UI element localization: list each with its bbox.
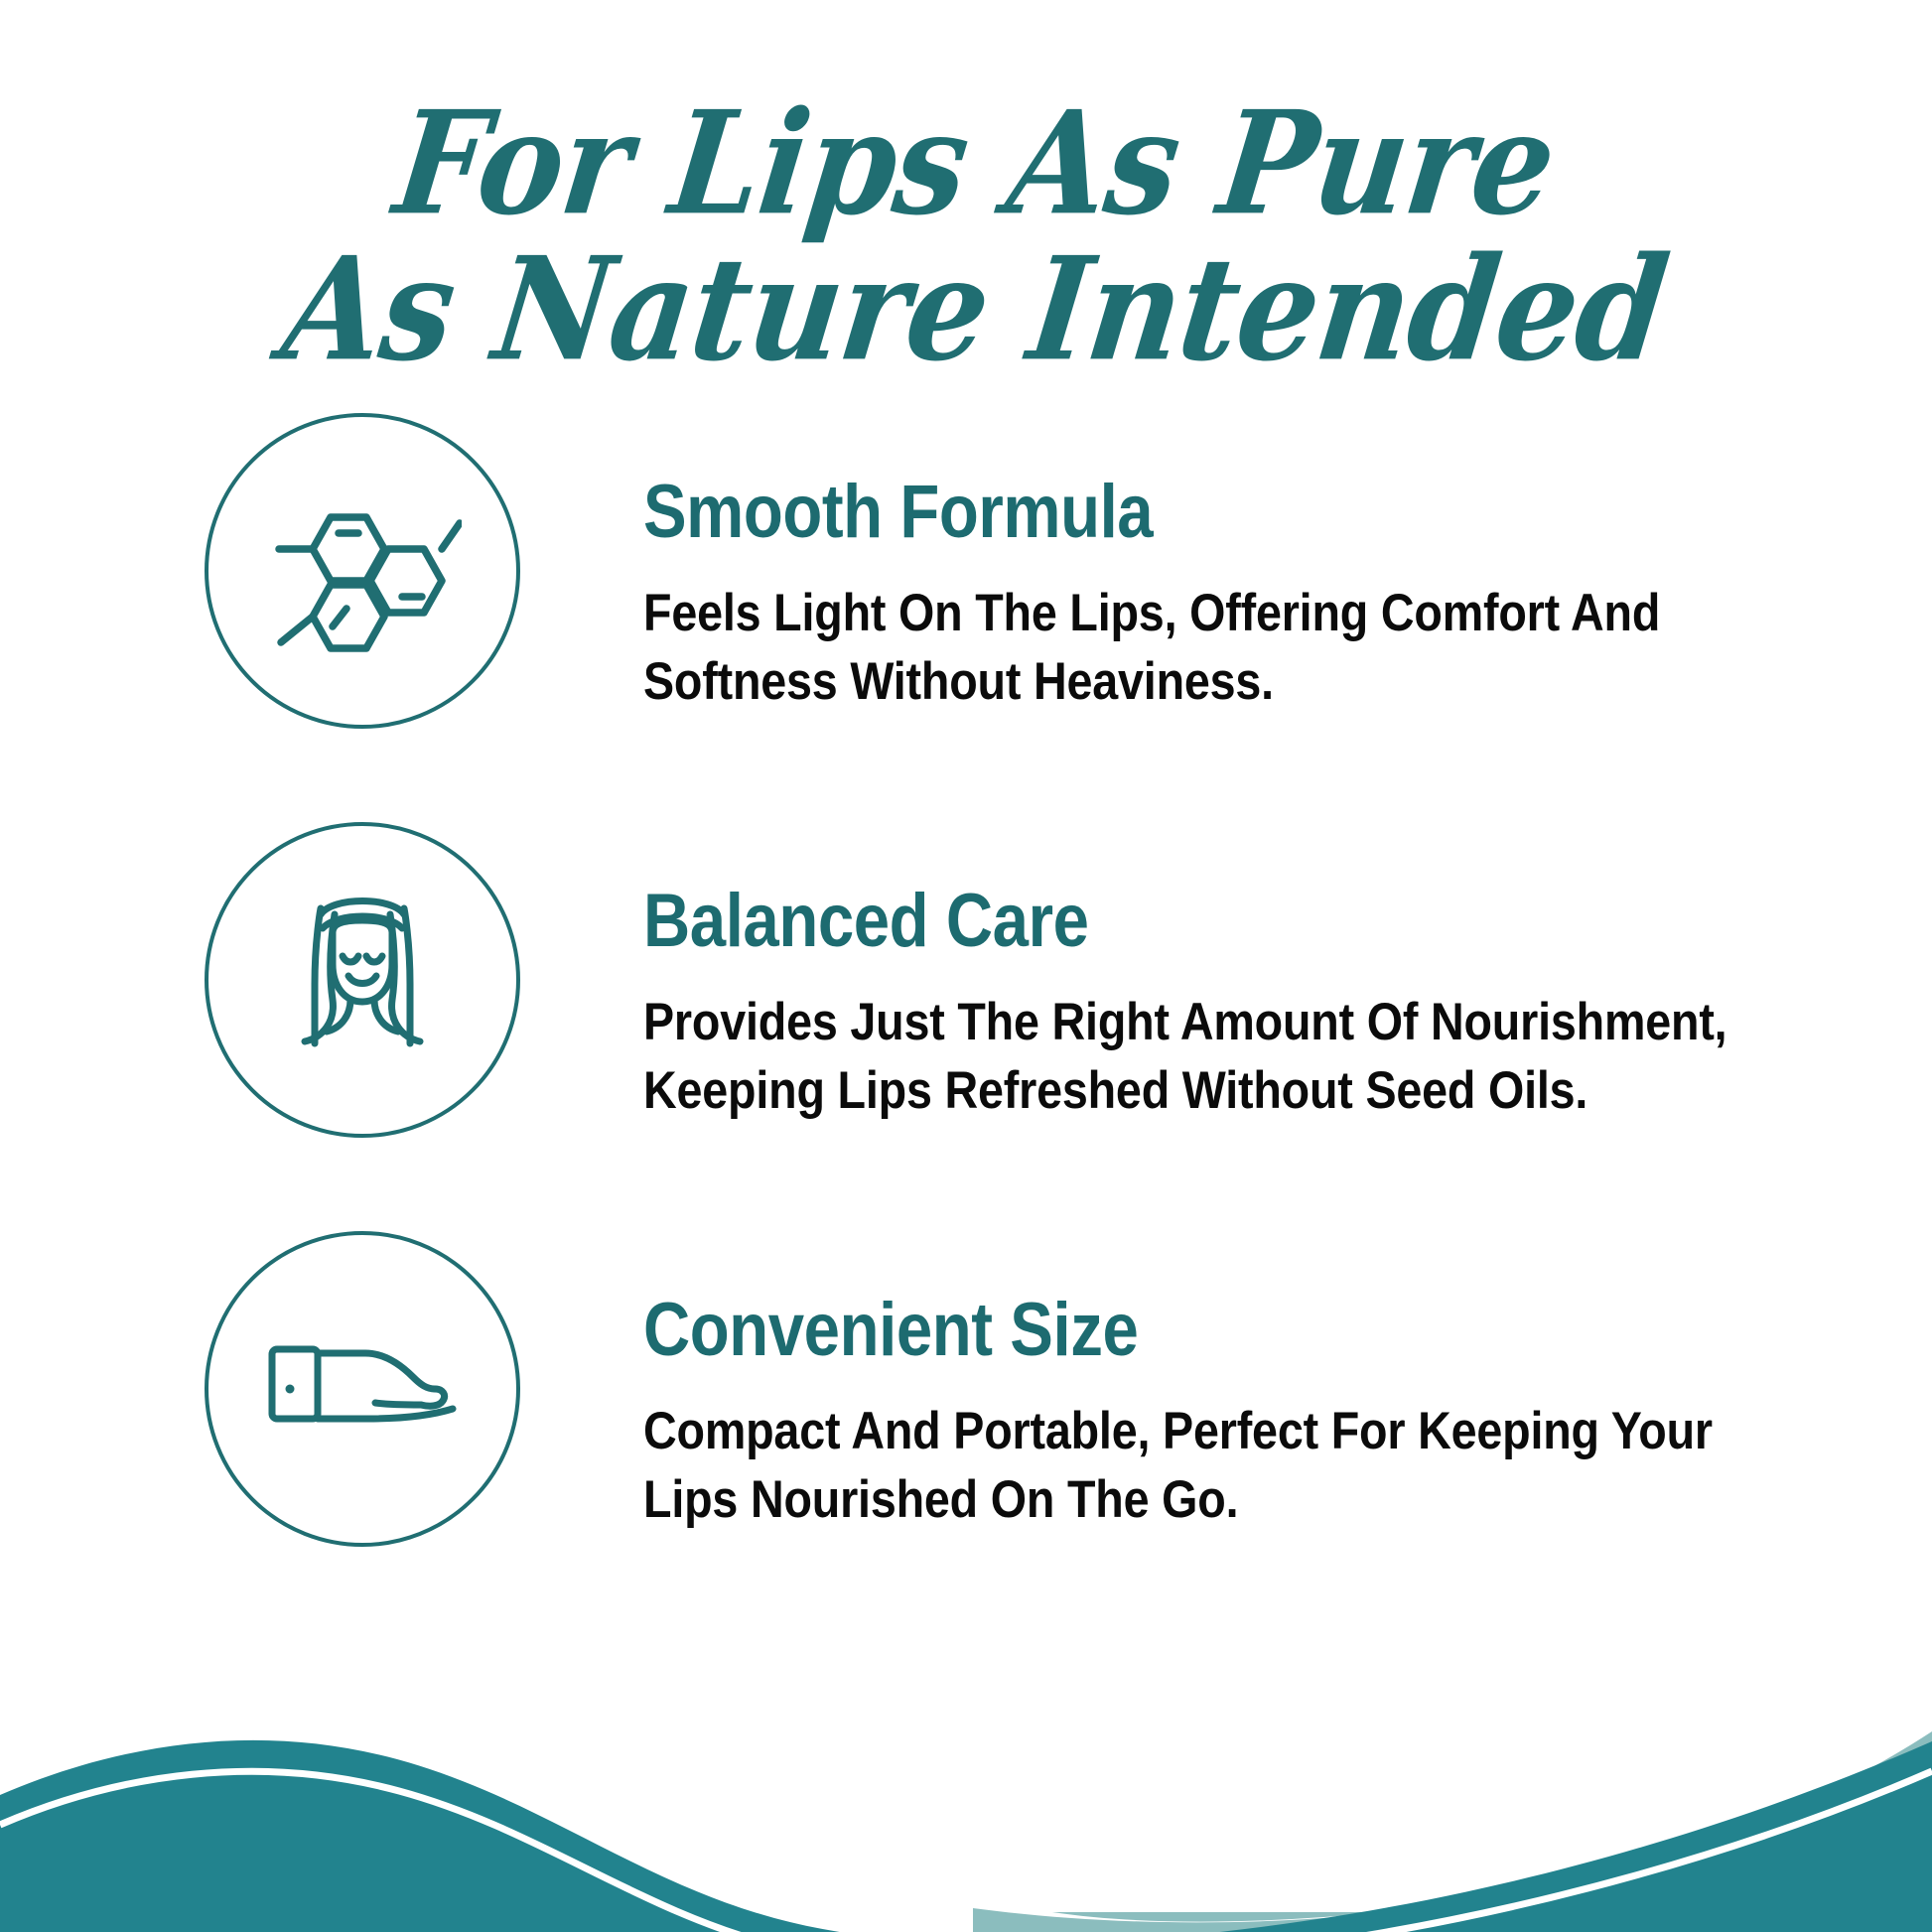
headline-line-1: For Lips As Pure — [0, 91, 1932, 236]
feature-description: Provides Just The Right Amount Of Nouris… — [643, 989, 1805, 1126]
wave-primary — [0, 1740, 1932, 1932]
page-title: For Lips As Pure As Nature Intended — [0, 107, 1932, 382]
product-benefits-poster: For Lips As Pure As Nature Intended — [0, 0, 1932, 1932]
feature-item-smooth-formula: Smooth Formula Feels Light On The Lips, … — [0, 413, 1932, 737]
headline-line-2: As Nature Intended — [0, 237, 1932, 382]
feature-text-block: Balanced Care Provides Just The Right Am… — [643, 884, 1815, 1126]
feature-item-convenient-size: Convenient Size Compact And Portable, Pe… — [0, 1231, 1932, 1555]
molecule-hexagons-icon — [263, 472, 462, 670]
feature-text-block: Smooth Formula Feels Light On The Lips, … — [643, 475, 1815, 717]
feature-item-balanced-care: Balanced Care Provides Just The Right Am… — [0, 822, 1932, 1146]
feature-icon-circle — [205, 413, 520, 729]
feature-text-block: Convenient Size Compact And Portable, Pe… — [643, 1293, 1815, 1535]
bottom-wave-decoration — [0, 1614, 1932, 1932]
feature-icon-circle — [205, 1231, 520, 1547]
open-hand-icon — [258, 1310, 467, 1468]
feature-title: Smooth Formula — [643, 475, 1651, 550]
feature-list: Smooth Formula Feels Light On The Lips, … — [0, 413, 1932, 1640]
feature-description: Compact And Portable, Perfect For Keepin… — [643, 1398, 1805, 1535]
feature-title: Convenient Size — [643, 1293, 1651, 1368]
feature-description: Feels Light On The Lips, Offering Comfor… — [643, 580, 1805, 717]
feature-title: Balanced Care — [643, 884, 1651, 959]
feature-icon-circle — [205, 822, 520, 1138]
woman-face-icon — [263, 881, 462, 1079]
